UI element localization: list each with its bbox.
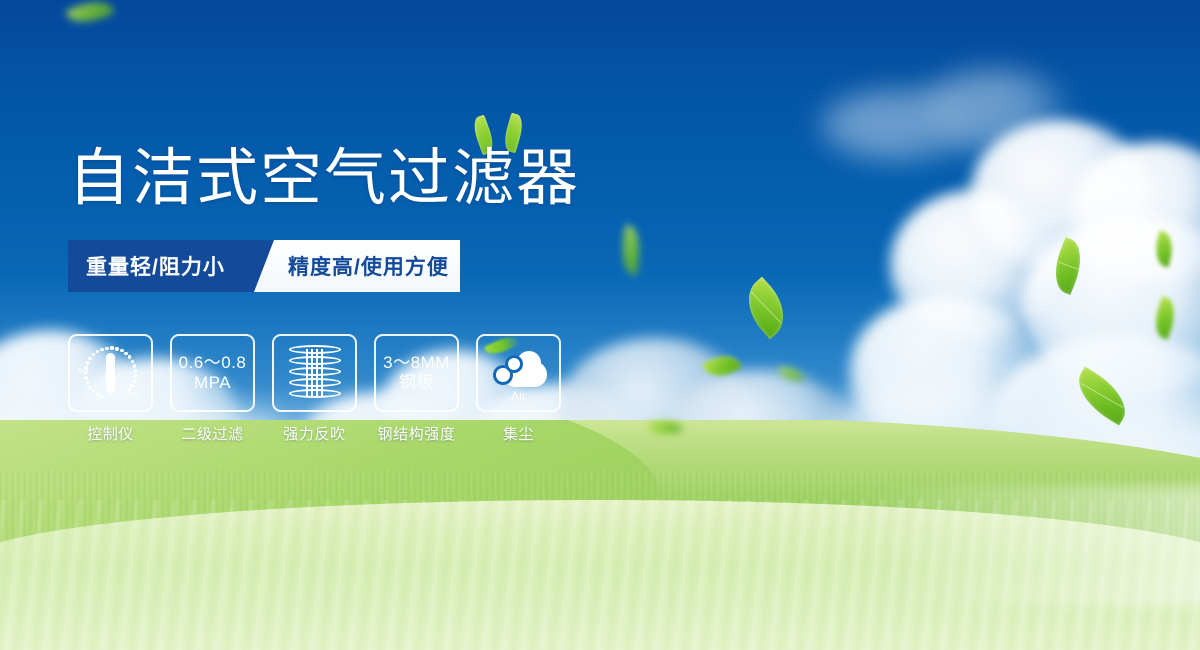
feature-icon-box: 0.6～0.8 MPA (170, 334, 255, 412)
feature-list: NO OFF 控制仪 0.6～0.8 MPA 二级过滤 (68, 334, 580, 444)
feature-icon-box (272, 334, 357, 412)
dial-no-label: NO (78, 368, 89, 375)
pressure-unit-text: MPA (194, 373, 231, 393)
floating-leaf-icon (1068, 367, 1136, 426)
feature-label: 强力反吹 (272, 423, 357, 444)
feature-label: 钢结构强度 (374, 423, 459, 444)
floating-leaf-icon (702, 348, 742, 383)
filter-cartridge-icon (289, 345, 341, 401)
steel-plate-unit-text: 钢板 (399, 373, 434, 393)
floating-leaf-icon (735, 277, 797, 340)
feature-item-two-stage-filter: 0.6～0.8 MPA 二级过滤 (170, 334, 255, 444)
feature-label: 控制仪 (68, 423, 153, 444)
feature-item-steel-strength: 3～8MM 钢板 钢结构强度 (374, 334, 459, 444)
badge-weight-resistance: 重量轻/阻力小 (68, 240, 254, 292)
feature-label: 二级过滤 (170, 423, 255, 444)
pressure-text-icon: 0.6～0.8 (179, 353, 247, 373)
steel-plate-text-icon: 3～8MM (383, 353, 450, 373)
badge-label: 重量轻/阻力小 (86, 251, 225, 281)
badge-precision-convenience: 精度高/使用方便 (254, 240, 460, 292)
air-label: Air (487, 389, 551, 403)
banner-content: 自洁式空气过滤器 重量轻/阻力小 精度高/使用方便 NO OFF (68, 0, 580, 444)
product-hero-banner: 自洁式空气过滤器 重量轻/阻力小 精度高/使用方便 NO OFF (0, 0, 1200, 650)
page-title: 自洁式空气过滤器 (68, 148, 580, 210)
feature-icon-box: Air (476, 334, 561, 412)
feature-item-controller: NO OFF 控制仪 (68, 334, 153, 444)
cumulus-cloud-icon (810, 70, 1070, 190)
floating-leaf-icon (777, 367, 804, 382)
feature-icon-box: 3～8MM 钢板 (374, 334, 459, 412)
feature-label: 集尘 (476, 423, 561, 444)
badge-group: 重量轻/阻力小 精度高/使用方便 (68, 240, 460, 292)
floating-leaf-icon (1149, 296, 1181, 340)
feature-item-reverse-blow: 强力反吹 (272, 334, 357, 444)
badge-label: 精度高/使用方便 (288, 251, 449, 281)
feature-icon-box: NO OFF (68, 334, 153, 412)
meadow-hill-icon (0, 420, 1200, 650)
floating-leaf-icon (1046, 237, 1090, 295)
floating-leaf-icon (619, 225, 644, 275)
floating-leaf-icon (1151, 230, 1177, 267)
air-cloud-icon: Air (487, 347, 551, 399)
feature-item-dust-collection: Air 集尘 (476, 334, 561, 444)
dial-gauge-icon: NO OFF (80, 344, 142, 402)
